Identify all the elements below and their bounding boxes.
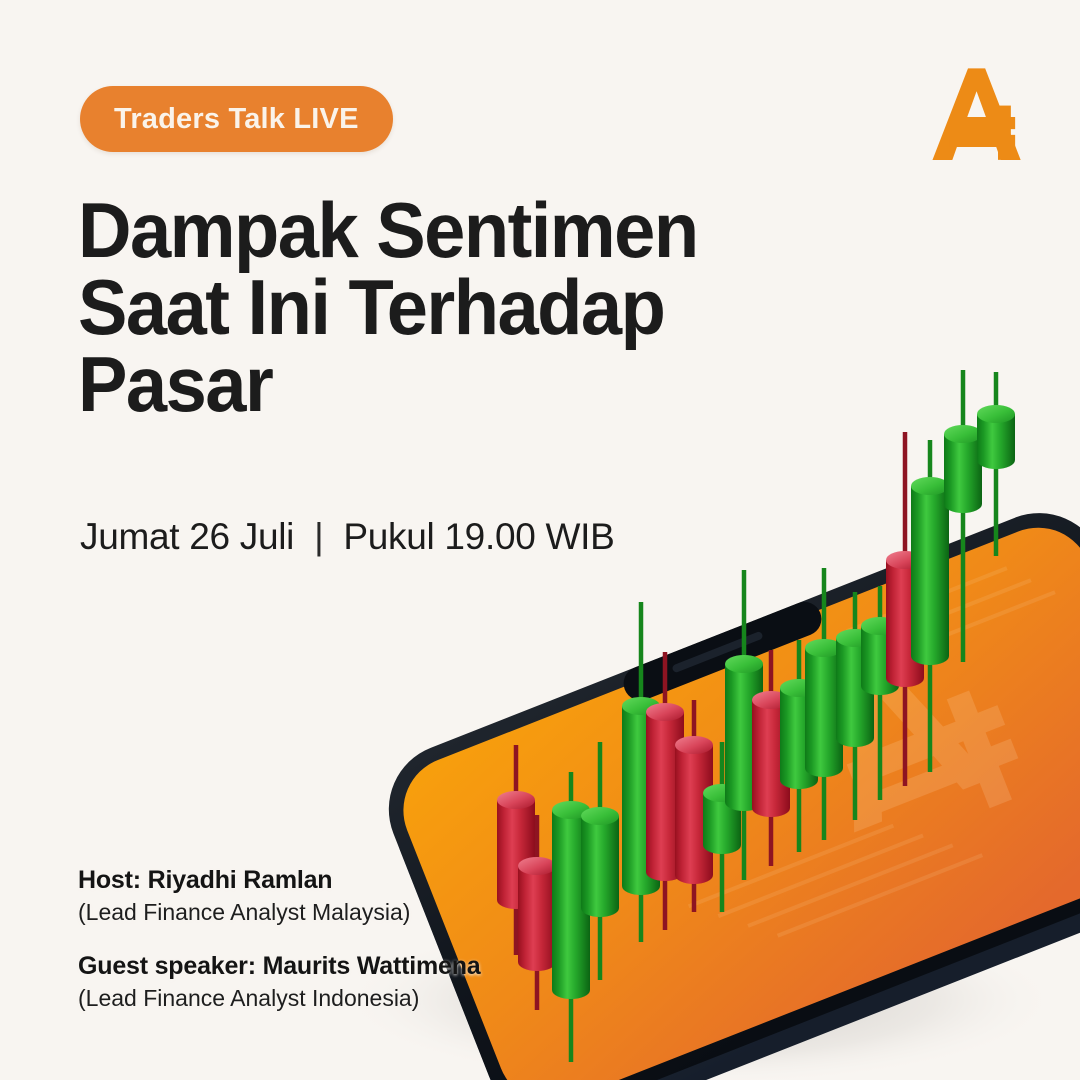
candle-body	[911, 486, 949, 656]
brand-logo-icon	[928, 64, 1028, 160]
host-credit: Host: Riyadhi Ramlan (Lead Finance Analy…	[78, 866, 481, 926]
headline-line-1: Dampak Sentimen	[78, 192, 781, 269]
guest-name: Guest speaker: Maurits Wattimena	[78, 952, 481, 981]
datetime-separator: |	[314, 516, 323, 558]
live-badge[interactable]: Traders Talk LIVE	[80, 86, 393, 152]
candle-body	[581, 816, 619, 908]
host-role: (Lead Finance Analyst Malaysia)	[78, 899, 481, 926]
candle-cap	[518, 857, 556, 875]
candle-cap	[581, 807, 619, 825]
speaker-credits: Host: Riyadhi Ramlan (Lead Finance Analy…	[78, 866, 481, 1038]
live-badge-label: Traders Talk LIVE	[114, 103, 359, 136]
host-name: Host: Riyadhi Ramlan	[78, 866, 481, 895]
candle-cap	[675, 736, 713, 754]
candle-cap	[725, 655, 763, 673]
poster-canvas: Traders Talk LIVE Dampak Sentimen Saat I…	[0, 0, 1080, 1080]
page-title: Dampak Sentimen Saat Ini Terhadap Pasar	[78, 192, 781, 424]
headline-line-2: Saat Ini Terhadap	[78, 269, 781, 346]
headline-line-3: Pasar	[78, 346, 781, 423]
guest-credit: Guest speaker: Maurits Wattimena (Lead F…	[78, 952, 481, 1012]
candle-cap	[977, 405, 1015, 423]
guest-role: (Lead Finance Analyst Indonesia)	[78, 985, 481, 1012]
candle-cap	[646, 703, 684, 721]
event-datetime: Jumat 26 Juli | Pukul 19.00 WIB	[80, 516, 614, 558]
candle-body	[518, 866, 556, 962]
candle-cap	[497, 791, 535, 809]
event-date: Jumat 26 Juli	[80, 516, 294, 557]
candle-cap	[944, 425, 982, 443]
candle-body	[944, 434, 982, 504]
event-time: Pukul 19.00 WIB	[343, 516, 614, 557]
candle-cap	[911, 477, 949, 495]
